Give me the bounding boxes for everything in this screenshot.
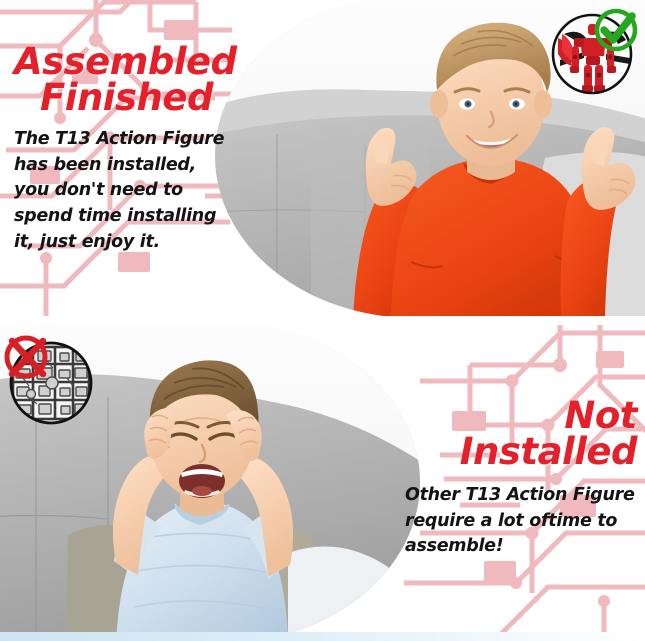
body-copy-assembled: The T13 Action Figure has been installed… (14, 127, 226, 256)
headline-line-2: Installed (405, 434, 637, 470)
headline-assembled-finished: Assembled Finished (14, 44, 226, 115)
bottom-accent-strip (0, 632, 645, 641)
copy-block-assembled: Assembled Finished The T13 Action Figure… (14, 44, 226, 256)
copy-block-not-installed: Not Installed Other T13 Action Figure re… (405, 398, 637, 560)
product-comparison-ad: Assembled Finished The T13 Action Figure… (0, 0, 645, 641)
unassembled-sprue-badge (3, 334, 95, 426)
headline-line-2: Finished (14, 80, 226, 116)
assembled-action-figure-badge (550, 8, 638, 96)
headline-line-1: Not (405, 398, 637, 434)
panel-assembled-finished: Assembled Finished The T13 Action Figure… (0, 0, 645, 316)
body-copy-not-installed: Other T13 Action Figure require a lot of… (405, 483, 637, 560)
headline-line-1: Assembled (14, 44, 226, 80)
headline-not-installed: Not Installed (405, 398, 637, 469)
panel-not-installed: Not Installed Other T13 Action Figure re… (0, 325, 645, 641)
